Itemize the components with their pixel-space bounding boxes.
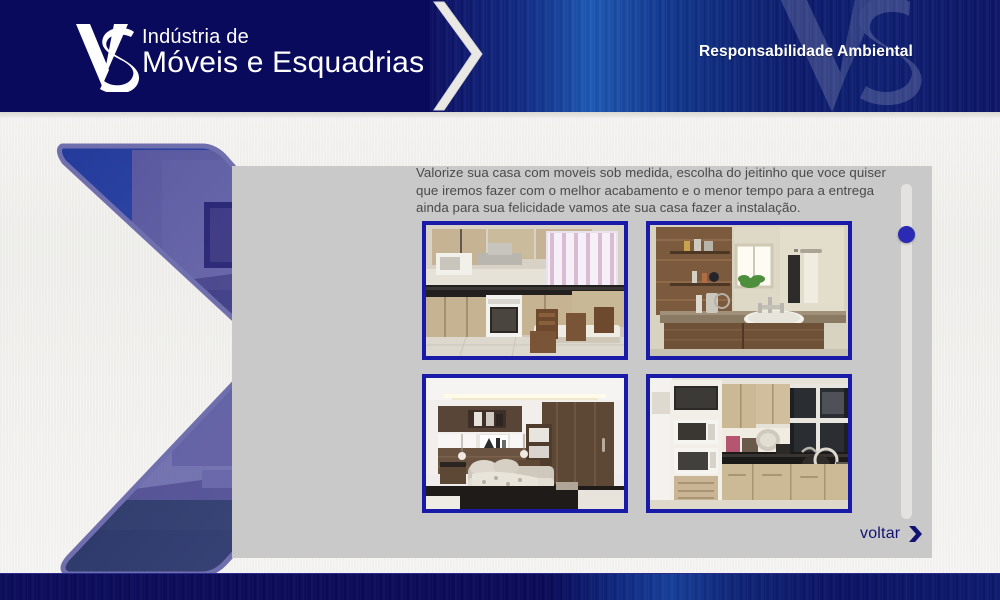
- back-link[interactable]: voltar: [860, 523, 926, 545]
- chevron-right-icon: [904, 523, 926, 545]
- bedroom-photo: [426, 378, 624, 509]
- nav-link-responsabilidade-ambiental[interactable]: Responsabilidade Ambiental: [699, 43, 913, 61]
- header-underline: [0, 112, 1000, 118]
- photo-gallery-grid: [422, 221, 852, 518]
- logo-line-1: Indústria de: [142, 27, 424, 47]
- intro-paragraph: Valorize sua casa com moveis sob medida,…: [416, 164, 900, 217]
- vs-logo-icon: [74, 20, 144, 92]
- gallery-photo-4[interactable]: [646, 374, 852, 513]
- kitchen-photo-2: [650, 378, 848, 509]
- gallery-photo-3[interactable]: [422, 374, 628, 513]
- gallery-photo-1[interactable]: [422, 221, 628, 360]
- page-root: Indústria de Móveis e Esquadrias Respons…: [0, 0, 1000, 600]
- vertical-scrollbar-thumb[interactable]: [898, 226, 915, 243]
- bathroom-photo: [650, 225, 848, 356]
- back-link-label: voltar: [860, 525, 900, 543]
- logo-wordmark: Indústria de Móveis e Esquadrias: [142, 27, 424, 79]
- content-panel: Valorize sua casa com moveis sob medida,…: [232, 166, 932, 558]
- chevron-right-icon: [432, 0, 494, 112]
- site-footer: [0, 573, 1000, 600]
- site-header: Indústria de Móveis e Esquadrias Respons…: [0, 0, 1000, 112]
- gallery-photo-2[interactable]: [646, 221, 852, 360]
- kitchen-photo-1: [426, 225, 624, 356]
- logo-line-2: Móveis e Esquadrias: [142, 48, 424, 79]
